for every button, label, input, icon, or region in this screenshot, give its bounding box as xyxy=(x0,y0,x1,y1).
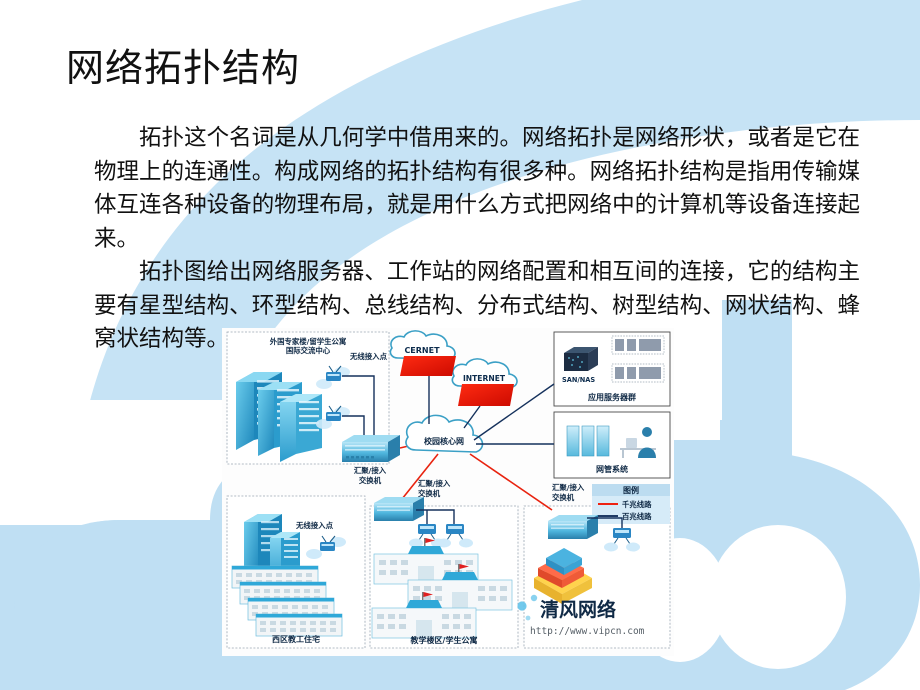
network-topology-svg: .cn { font-family: "DejaVu Sans","Libera… xyxy=(222,328,674,656)
watermark-brand: 清风网络 xyxy=(540,598,616,621)
svg-text:CERNET: CERNET xyxy=(404,346,440,355)
switch-icon-top-left xyxy=(342,435,400,462)
content-layer: 网络拓扑结构 拓扑这个名词是从几何学中借用来的。网络拓扑是网络形状，或者是它在物… xyxy=(0,0,920,690)
network-topology-diagram: .cn { font-family: "DejaVu Sans","Libera… xyxy=(222,328,674,656)
network-mgmt-servers-icon xyxy=(567,426,609,456)
label-switch-top-left-2: 交换机 xyxy=(359,476,382,485)
body-text: 拓扑这个名词是从几何学中借用来的。网络拓扑是网络形状，或者是它在物理上的连通性。… xyxy=(94,122,860,357)
label-top-left-site: 外国专家楼/留学生公寓 xyxy=(269,337,347,346)
uplink-bar-cernet xyxy=(400,356,456,376)
watermark-url: http://www.vipcn.com xyxy=(530,626,645,637)
slide-root: 网络拓扑结构 拓扑这个名词是从几何学中借用来的。网络拓扑是网络形状，或者是它在物… xyxy=(0,0,920,690)
label-top-left-site-2: 国际交流中心 xyxy=(286,346,331,355)
label-teaching-dorm: 教学楼区/学生公寓 xyxy=(410,635,478,645)
switch-icon-mid xyxy=(374,497,424,521)
label-switch-mid-1: 汇聚/接入 xyxy=(418,479,451,488)
label-west-staff-housing: 西区教工住宅 xyxy=(272,634,320,644)
svg-text:INTERNET: INTERNET xyxy=(463,374,506,383)
label-switch-top-left-1: 汇聚/接入 xyxy=(354,466,387,475)
svg-text:校园核心网: 校园核心网 xyxy=(424,436,464,446)
svg-text:图例: 图例 xyxy=(623,485,639,495)
paragraph-1: 拓扑这个名词是从几何学中借用来的。网络拓扑是网络形状，或者是它在物理上的连通性。… xyxy=(94,122,860,256)
label-wireless-ap-top: 无线接入点 xyxy=(349,352,388,361)
label-wireless-ap-bottom: 无线接入点 xyxy=(295,521,334,530)
label-switch-mid-2: 交换机 xyxy=(418,489,441,498)
label-network-mgmt: 网管系统 xyxy=(596,464,628,474)
page-title: 网络拓扑结构 xyxy=(66,44,300,92)
uplink-bar-internet xyxy=(458,384,514,406)
label-switch-right-1: 汇聚/接入 xyxy=(552,483,585,492)
legend-label-gigabit: 千兆线路 xyxy=(622,500,652,509)
san-nas-icon xyxy=(564,347,598,371)
label-san-nas: SAN/NAS xyxy=(562,376,595,384)
label-switch-right-2: 交换机 xyxy=(552,493,575,502)
label-app-server-group: 应用服务器群 xyxy=(588,392,636,402)
legend-label-fast: 百兆线路 xyxy=(622,512,652,521)
